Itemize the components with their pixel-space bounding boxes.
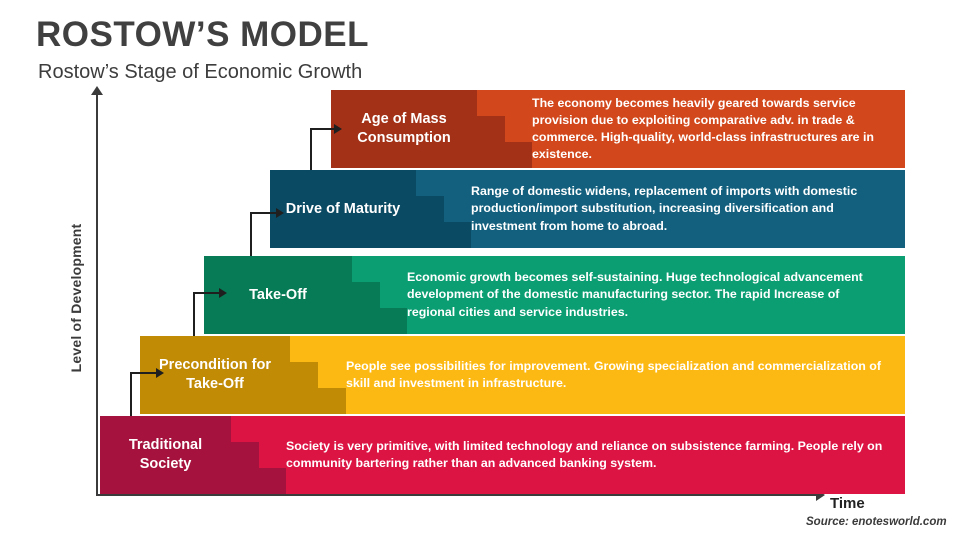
connector-arrow-4 (310, 128, 344, 170)
stage-description: Range of domestic widens, replacement of… (471, 170, 905, 248)
stage-label: Drive of Maturity (270, 170, 416, 248)
x-axis-label: Time (830, 495, 865, 512)
x-axis-line (96, 494, 819, 496)
connector-arrow-3 (250, 212, 284, 256)
connector-arrow-1 (130, 372, 164, 416)
connector-arrow-2 (193, 292, 227, 336)
stage-description: The economy becomes heavily geared towar… (532, 90, 905, 168)
stage-label: Age of Mass Consumption (331, 90, 477, 168)
stage-traditional-society[interactable]: Traditional Society Society is very prim… (100, 416, 905, 494)
stage-age-of-mass-consumption[interactable]: Age of Mass Consumption The economy beco… (331, 90, 905, 168)
stage-description: People see possibilities for improvement… (346, 336, 905, 414)
stage-drive-of-maturity[interactable]: Drive of Maturity Range of domestic wide… (270, 170, 905, 248)
y-axis-label: Level of Development (68, 198, 84, 398)
y-axis-arrowhead-icon (91, 86, 103, 95)
source-credit: Source: enotesworld.com (806, 516, 947, 528)
stage-label: Traditional Society (100, 416, 231, 494)
page-subtitle: Rostow’s Stage of Economic Growth (38, 60, 362, 84)
stage-description: Society is very primitive, with limited … (286, 416, 905, 494)
stage-precondition-for-take-off[interactable]: Precondition for Take-Off People see pos… (140, 336, 905, 414)
stage-take-off[interactable]: Take-Off Economic growth becomes self-su… (204, 256, 905, 334)
page-title: ROSTOW’S MODEL (36, 16, 369, 55)
diagram-canvas: ROSTOW’S MODEL Rostow’s Stage of Economi… (0, 0, 960, 540)
stage-description: Economic growth becomes self-sustaining.… (407, 256, 905, 334)
y-axis-line (96, 92, 98, 496)
